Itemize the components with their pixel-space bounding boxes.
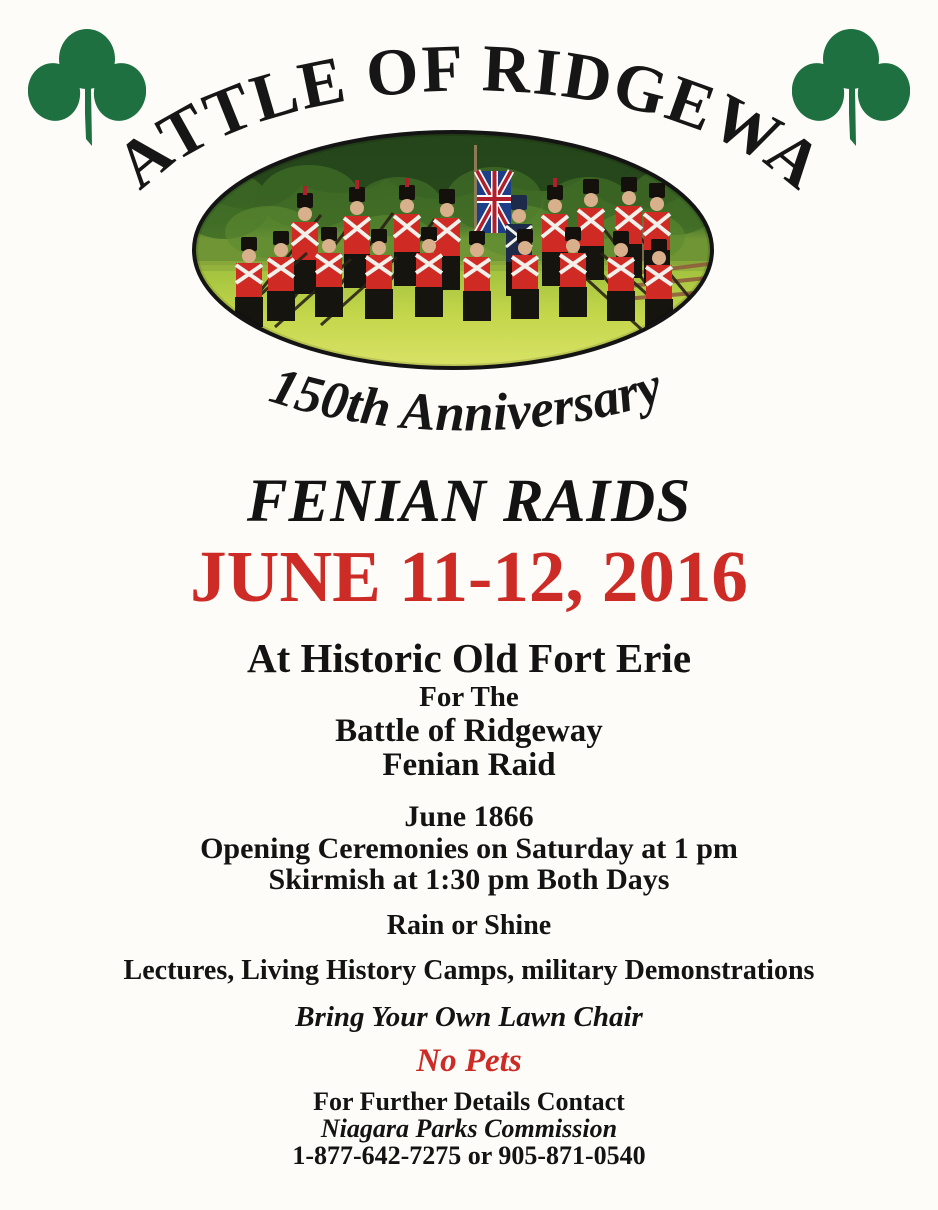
opening-ceremonies-label: Opening Ceremonies on Saturday at 1 pm [0,833,938,864]
skirmish-label: Skirmish at 1:30 pm Both Days [0,864,938,895]
poster-canvas: BATTLE OF RIDGEWAY [0,0,938,1210]
lawn-chair-note: Bring Your Own Lawn Chair [0,1002,938,1032]
for-the-label: For The [0,682,938,712]
poster-body: FENIAN RAIDS JUNE 11-12, 2016 At Histori… [0,470,938,1169]
activities-label: Lectures, Living History Camps, military… [0,956,938,985]
battle-name-label: Battle of Ridgeway [0,714,938,748]
oval-photo [189,127,717,373]
shamrock-icon-left [28,26,146,156]
event-date-heading: JUNE 11-12, 2016 [0,539,938,615]
shamrock-icon-right [792,26,910,156]
no-pets-notice: No Pets [0,1044,938,1078]
fenian-raids-heading: FENIAN RAIDS [0,470,938,533]
rain-or-shine-label: Rain or Shine [0,911,938,940]
raid-name-label: Fenian Raid [0,748,938,782]
contact-phone-number: 1-877-642-7275 or 905-871-0540 [0,1142,938,1169]
venue-heading: At Historic Old Fort Erie [0,637,938,680]
historical-date-label: June 1866 [0,801,938,832]
contact-lead-label: For Further Details Contact [0,1088,938,1115]
contact-organization: Niagara Parks Commission [0,1115,938,1142]
